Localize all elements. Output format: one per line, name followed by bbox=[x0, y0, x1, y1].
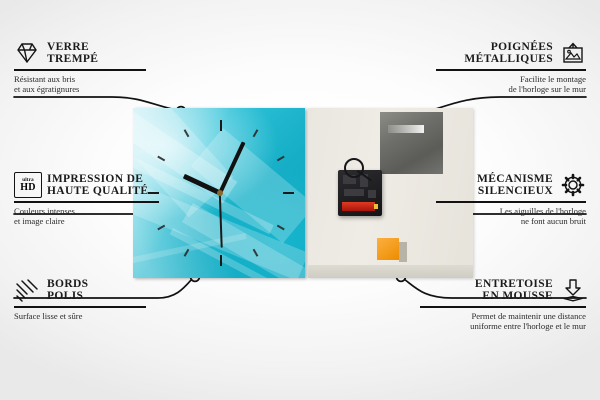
callout-sub-line2: de l'horloge sur le mur bbox=[509, 84, 586, 94]
callout-rule bbox=[436, 69, 586, 71]
callout-sub-line1: Les aiguilles de l'horloge bbox=[500, 206, 586, 216]
callout-rule bbox=[14, 69, 146, 71]
callout-title-line1: IMPRESSION DE bbox=[47, 173, 143, 185]
callout-mecanisme-silencieux: MÉCANISME SILENCIEUX Les aiguilles de l'… bbox=[436, 172, 586, 227]
callout-rule bbox=[14, 306, 146, 308]
callout-sub-line1: Permet de maintenir une distance bbox=[471, 311, 586, 321]
callout-entretoise-en-mousse: ENTRETOISE EN MOUSSE Permet de maintenir… bbox=[420, 277, 586, 332]
callout-rule bbox=[420, 306, 586, 308]
callout-sub-line2: et aux égratignures bbox=[14, 84, 79, 94]
foam-spacer-icon bbox=[560, 277, 586, 303]
callout-title-line1: VERRE bbox=[47, 41, 89, 53]
callout-title-line1: ENTRETOISE bbox=[475, 278, 553, 290]
callout-title-line1: BORDS bbox=[47, 278, 88, 290]
callout-title-line1: MÉCANISME bbox=[477, 173, 553, 185]
gear-icon bbox=[560, 172, 586, 198]
callout-title-line1: POIGNÉES bbox=[491, 41, 553, 53]
callout-sub-line1: Surface lisse et sûre bbox=[14, 311, 83, 321]
metal-plate bbox=[380, 112, 443, 174]
clock-hub bbox=[217, 190, 223, 196]
battery-terminal bbox=[374, 204, 378, 209]
callout-title-line2: HAUTE QUALITÉ bbox=[47, 185, 148, 197]
metal-plate-highlight bbox=[388, 125, 424, 133]
foam-spacer-shadow bbox=[399, 242, 407, 262]
callout-bords-polis: BORDS POLIS Surface lisse et sûre bbox=[14, 277, 164, 321]
second-hand bbox=[219, 193, 223, 248]
ultra-hd-icon-main: HD bbox=[20, 183, 36, 193]
callout-impression-haute-qualite: ultra HD IMPRESSION DE HAUTE QUALITÉ Cou… bbox=[14, 172, 174, 227]
polished-edges-icon bbox=[14, 277, 40, 303]
callout-title-line2: EN MOUSSE bbox=[482, 290, 553, 302]
clock-mechanism bbox=[338, 170, 382, 216]
hour-hand bbox=[183, 174, 221, 195]
foam-spacer bbox=[377, 238, 399, 260]
ultra-hd-icon: ultra HD bbox=[14, 172, 40, 198]
callout-title-line2: SILENCIEUX bbox=[478, 185, 553, 197]
picture-hanger-icon bbox=[560, 40, 586, 66]
battery bbox=[342, 202, 375, 211]
callout-verre-trempe: VERRE TREMPÉ Résistant aux bris et aux é… bbox=[14, 40, 164, 95]
callout-sub-line1: Couleurs intenses bbox=[14, 206, 75, 216]
callout-title-line2: MÉTALLIQUES bbox=[464, 53, 553, 65]
callout-poignees-metalliques: POIGNÉES MÉTALLIQUES Facilite le montage… bbox=[436, 40, 586, 95]
callout-sub-line2: uniforme entre l'horloge et le mur bbox=[470, 321, 586, 331]
callout-title-line2: POLIS bbox=[47, 290, 83, 302]
infographic-canvas: VERRE TREMPÉ Résistant aux bris et aux é… bbox=[0, 0, 600, 400]
diamond-icon bbox=[14, 40, 40, 66]
callout-rule bbox=[14, 201, 159, 203]
callout-sub-line2: et image claire bbox=[14, 216, 65, 226]
callout-sub-line2: ne font aucun bruit bbox=[521, 216, 586, 226]
callout-rule bbox=[436, 201, 586, 203]
minute-hand bbox=[218, 141, 245, 193]
product-photo bbox=[133, 108, 473, 278]
callout-sub-line1: Résistant aux bris bbox=[14, 74, 75, 84]
callout-title-line2: TREMPÉ bbox=[47, 53, 98, 65]
callout-sub-line1: Facilite le montage bbox=[520, 74, 586, 84]
